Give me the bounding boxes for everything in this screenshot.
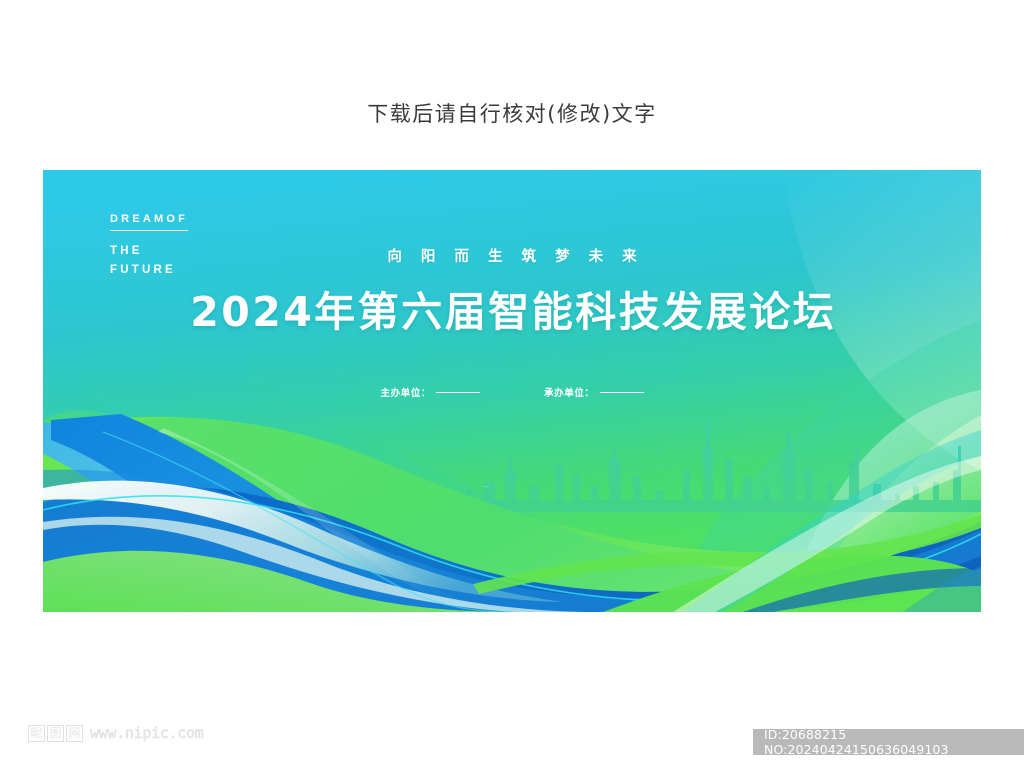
banner-subtitle: 向 阳 而 生 筑 梦 未 来 (43, 245, 981, 266)
banner-main-title: 2024年第六届智能科技发展论坛 (43, 278, 981, 338)
organizer-coorganizer-label: 承办单位： (544, 385, 595, 399)
organizer-host-label: 主办单位： (380, 385, 431, 399)
image-id-bar: ID:20688215 NO:20240424150636049103 (753, 729, 1024, 755)
nipic-logo-icon: 昵 图 网 (28, 725, 83, 742)
watermark-url: www.nipic.com (90, 724, 204, 742)
logo-char-2: 图 (47, 725, 64, 742)
organizer-row: 主办单位： 承办单位： (43, 385, 981, 399)
conference-banner: DREAMOF THE FUTURE 向 阳 而 生 筑 梦 未 来 2024年… (43, 170, 981, 612)
site-watermark: 昵 图 网 www.nipic.com (28, 724, 204, 742)
organizer-host-line (436, 392, 480, 393)
download-notice-text: 下载后请自行核对(修改)文字 (0, 98, 1024, 128)
page-root: 下载后请自行核对(修改)文字 (0, 0, 1024, 772)
logo-char-3: 网 (66, 725, 83, 742)
organizer-coorganizer-line (600, 392, 644, 393)
logo-char-1: 昵 (28, 725, 45, 742)
organizer-coorganizer: 承办单位： (544, 385, 644, 399)
organizer-host: 主办单位： (380, 385, 480, 399)
dream-of-label: DREAMOF (110, 213, 188, 231)
